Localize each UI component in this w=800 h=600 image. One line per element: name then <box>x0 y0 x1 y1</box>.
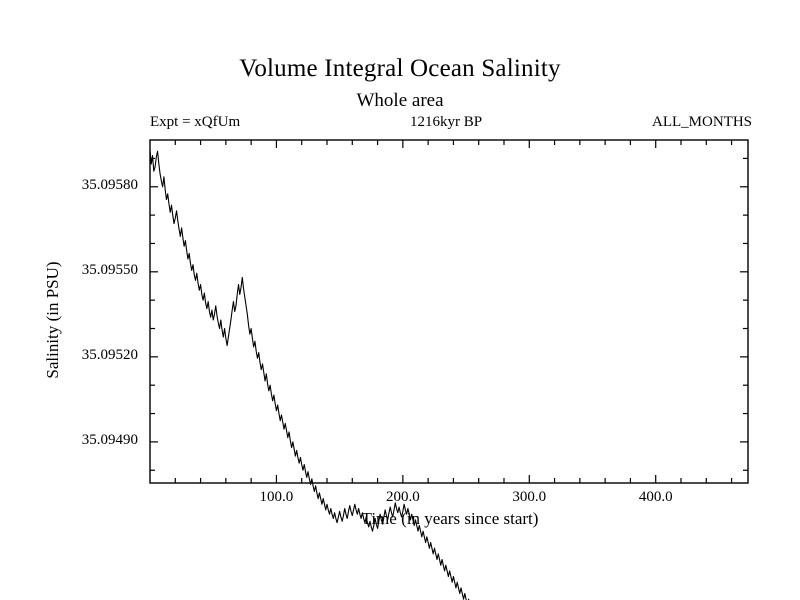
x-tick-label: 300.0 <box>484 489 574 506</box>
x-tick-label: 400.0 <box>611 489 701 506</box>
y-axis-title: Salinity (in PSU) <box>43 190 63 450</box>
x-axis-title: Time (in years since start) <box>150 509 750 529</box>
plot-frame <box>150 140 748 483</box>
x-tick-label: 200.0 <box>358 489 448 506</box>
chart-page: Volume Integral Ocean Salinity Whole are… <box>0 0 800 600</box>
x-tick-label: 100.0 <box>231 489 321 506</box>
